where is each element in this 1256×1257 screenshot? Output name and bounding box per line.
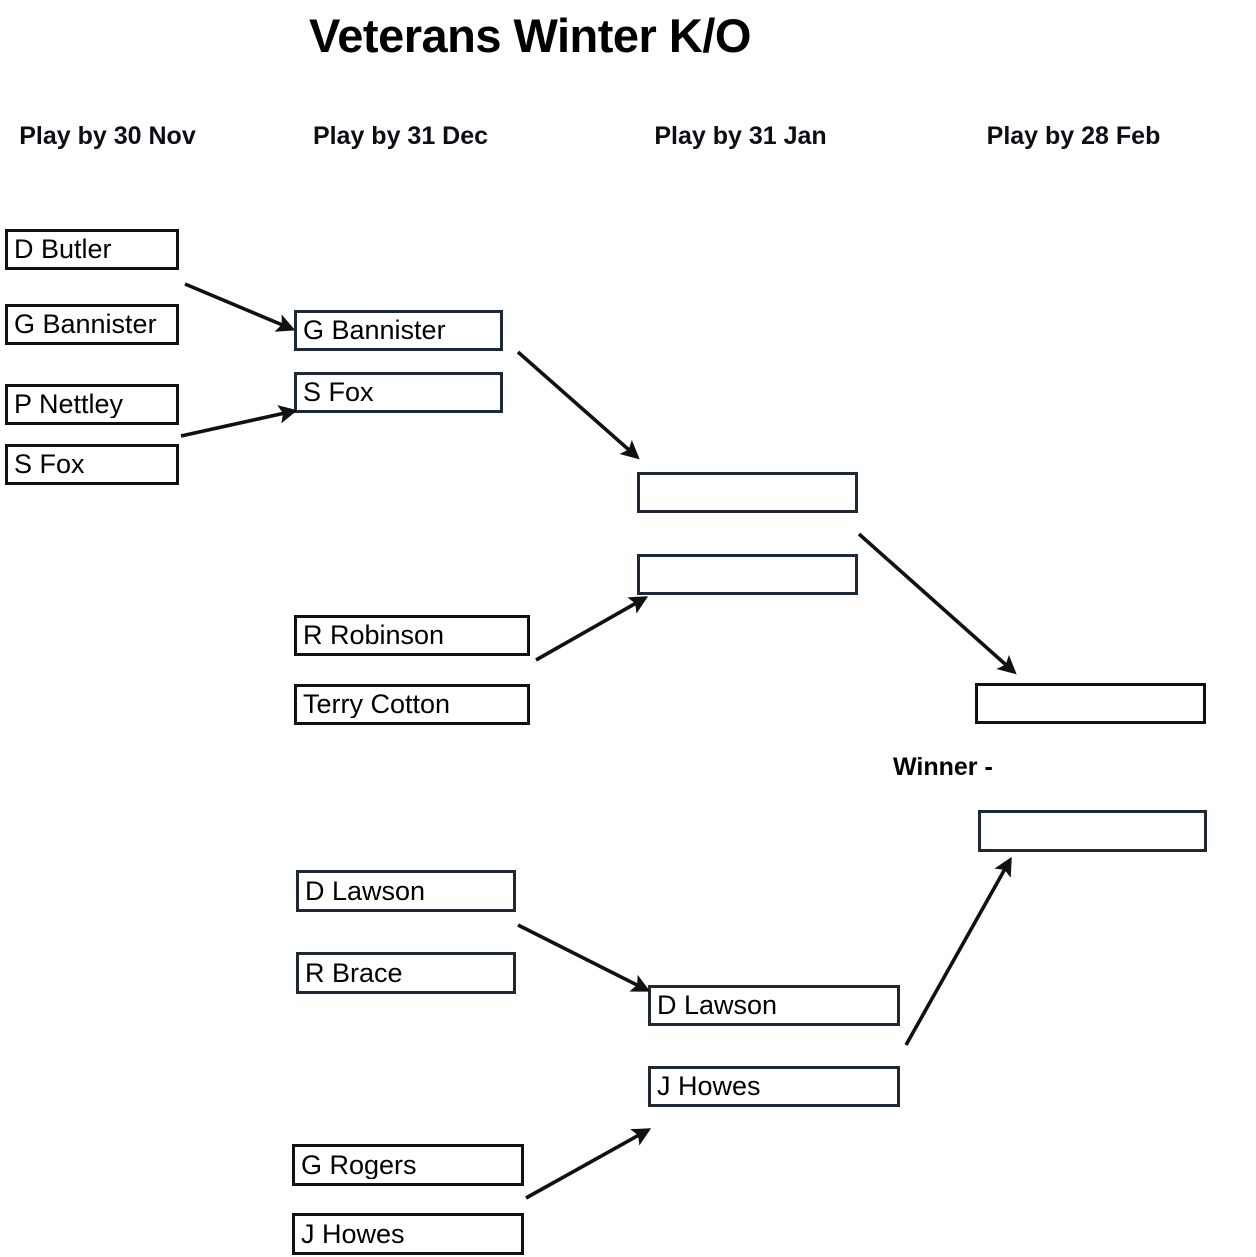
round1-slot-6-label: J Howes	[295, 1221, 405, 1248]
round2-slot-4[interactable]: Terry Cotton	[294, 684, 530, 725]
arrow-robinson-cotton-to-semifinal	[536, 598, 645, 660]
tournament-bracket-page: Veterans Winter K/O Play by 30 NovPlay b…	[0, 0, 1256, 1257]
round3-slot-2[interactable]	[637, 554, 858, 595]
round1-slot-3-label: P Nettley	[8, 391, 123, 418]
round1-slot-4[interactable]: S Fox	[5, 444, 179, 485]
final-slot-1[interactable]	[975, 683, 1206, 724]
round1-slot-2-label: G Bannister	[8, 311, 157, 338]
round3-slot-3[interactable]: D Lawson	[648, 985, 900, 1026]
round3-slot-4[interactable]: J Howes	[648, 1066, 900, 1107]
round-header-2: Play by 31 Dec	[293, 122, 508, 151]
round2-slot-1[interactable]: G Bannister	[294, 310, 503, 351]
page-title: Veterans Winter K/O	[0, 8, 1060, 63]
round1-slot-4-label: S Fox	[8, 451, 85, 478]
round2-slot-4-label: Terry Cotton	[297, 691, 450, 718]
round3-slot-4-label: J Howes	[651, 1073, 761, 1100]
round2-slot-3-label: R Robinson	[297, 622, 444, 649]
round2-slot-2-label: S Fox	[297, 379, 374, 406]
round2-slot-5-label: D Lawson	[299, 878, 425, 905]
round1-slot-5-label: G Rogers	[295, 1152, 417, 1179]
final-slot-2[interactable]	[978, 810, 1207, 852]
arrow-butler-bannister-to-bannister	[185, 284, 292, 329]
round1-slot-3[interactable]: P Nettley	[5, 384, 179, 425]
round1-slot-1-label: D Butler	[8, 236, 112, 263]
round2-slot-1-label: G Bannister	[297, 317, 446, 344]
round1-slot-5[interactable]: G Rogers	[292, 1144, 524, 1186]
arrow-bannister-to-semifinal	[518, 352, 637, 457]
bracket-arrows	[0, 0, 1256, 1257]
round1-slot-2[interactable]: G Bannister	[5, 304, 179, 345]
arrow-rogers-howes-to-howes	[526, 1130, 648, 1198]
arrow-lawson-brace-to-lawson	[518, 925, 647, 990]
round2-slot-3[interactable]: R Robinson	[294, 615, 530, 656]
round2-slot-6[interactable]: R Brace	[296, 952, 516, 994]
arrow-howes-to-final	[906, 860, 1010, 1045]
round-header-4: Play by 28 Feb	[966, 122, 1181, 151]
round-header-1: Play by 30 Nov	[0, 122, 215, 151]
round1-slot-1[interactable]: D Butler	[5, 229, 179, 270]
arrow-semifinal-to-final	[859, 534, 1014, 672]
round2-slot-6-label: R Brace	[299, 960, 403, 987]
winner-label: Winner -	[893, 753, 993, 782]
round2-slot-5[interactable]: D Lawson	[296, 870, 516, 912]
round3-slot-1[interactable]	[637, 472, 858, 513]
round-header-3: Play by 31 Jan	[633, 122, 848, 151]
arrow-nettley-fox-to-fox	[181, 411, 294, 436]
round1-slot-6[interactable]: J Howes	[292, 1213, 524, 1255]
round3-slot-3-label: D Lawson	[651, 992, 777, 1019]
round2-slot-2[interactable]: S Fox	[294, 372, 503, 413]
